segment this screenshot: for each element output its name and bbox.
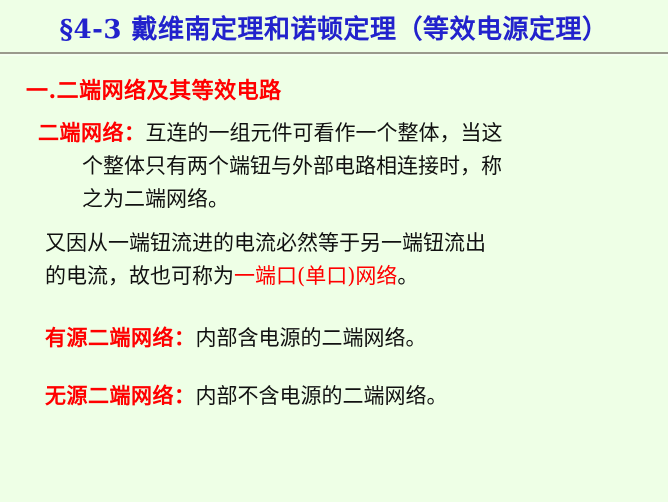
definition-line-2: 个整体只有两个端钮与外部电路相连接时，称 [82, 153, 502, 179]
active-network-line: 有源二端网络：内部含电源的二端网络。 [45, 325, 427, 351]
passive-network-term: 无源二端网络 [45, 383, 174, 408]
paragraph-line-2: 的电流，故也可称为一端口(单口)网络。 [45, 263, 418, 289]
definition-term: 二端网络 [38, 120, 124, 145]
passive-network-colon: ： [174, 383, 196, 408]
page-title: §4-3 戴维南定理和诺顿定理（等效电源定理） [0, 13, 668, 47]
definition-line-1-text: 互连的一组元件可看作一个整体，当这 [146, 121, 503, 145]
active-network-text: 内部含电源的二端网络。 [196, 326, 427, 350]
definition-line-1: 二端网络：互连的一组元件可看作一个整体，当这 [38, 120, 503, 146]
definition-colon: ： [124, 120, 146, 145]
paragraph-line-1: 又因从一端钮流进的电流必然等于另一端钮流出 [45, 230, 486, 256]
active-network-term: 有源二端网络 [45, 325, 174, 350]
definition-line-3: 之为二端网络。 [82, 186, 229, 212]
title-divider [0, 52, 668, 56]
paragraph-line-2-suffix: 。 [397, 264, 418, 288]
passive-network-line: 无源二端网络：内部不含电源的二端网络。 [45, 383, 448, 409]
paragraph-line-2-prefix: 的电流，故也可称为 [45, 264, 234, 288]
active-network-colon: ： [174, 325, 196, 350]
section-heading-1: 一.二端网络及其等效电路 [26, 78, 282, 104]
passive-network-text: 内部不含电源的二端网络。 [196, 384, 448, 408]
paragraph-line-2-highlight: 一端口(单口)网络 [234, 264, 397, 288]
